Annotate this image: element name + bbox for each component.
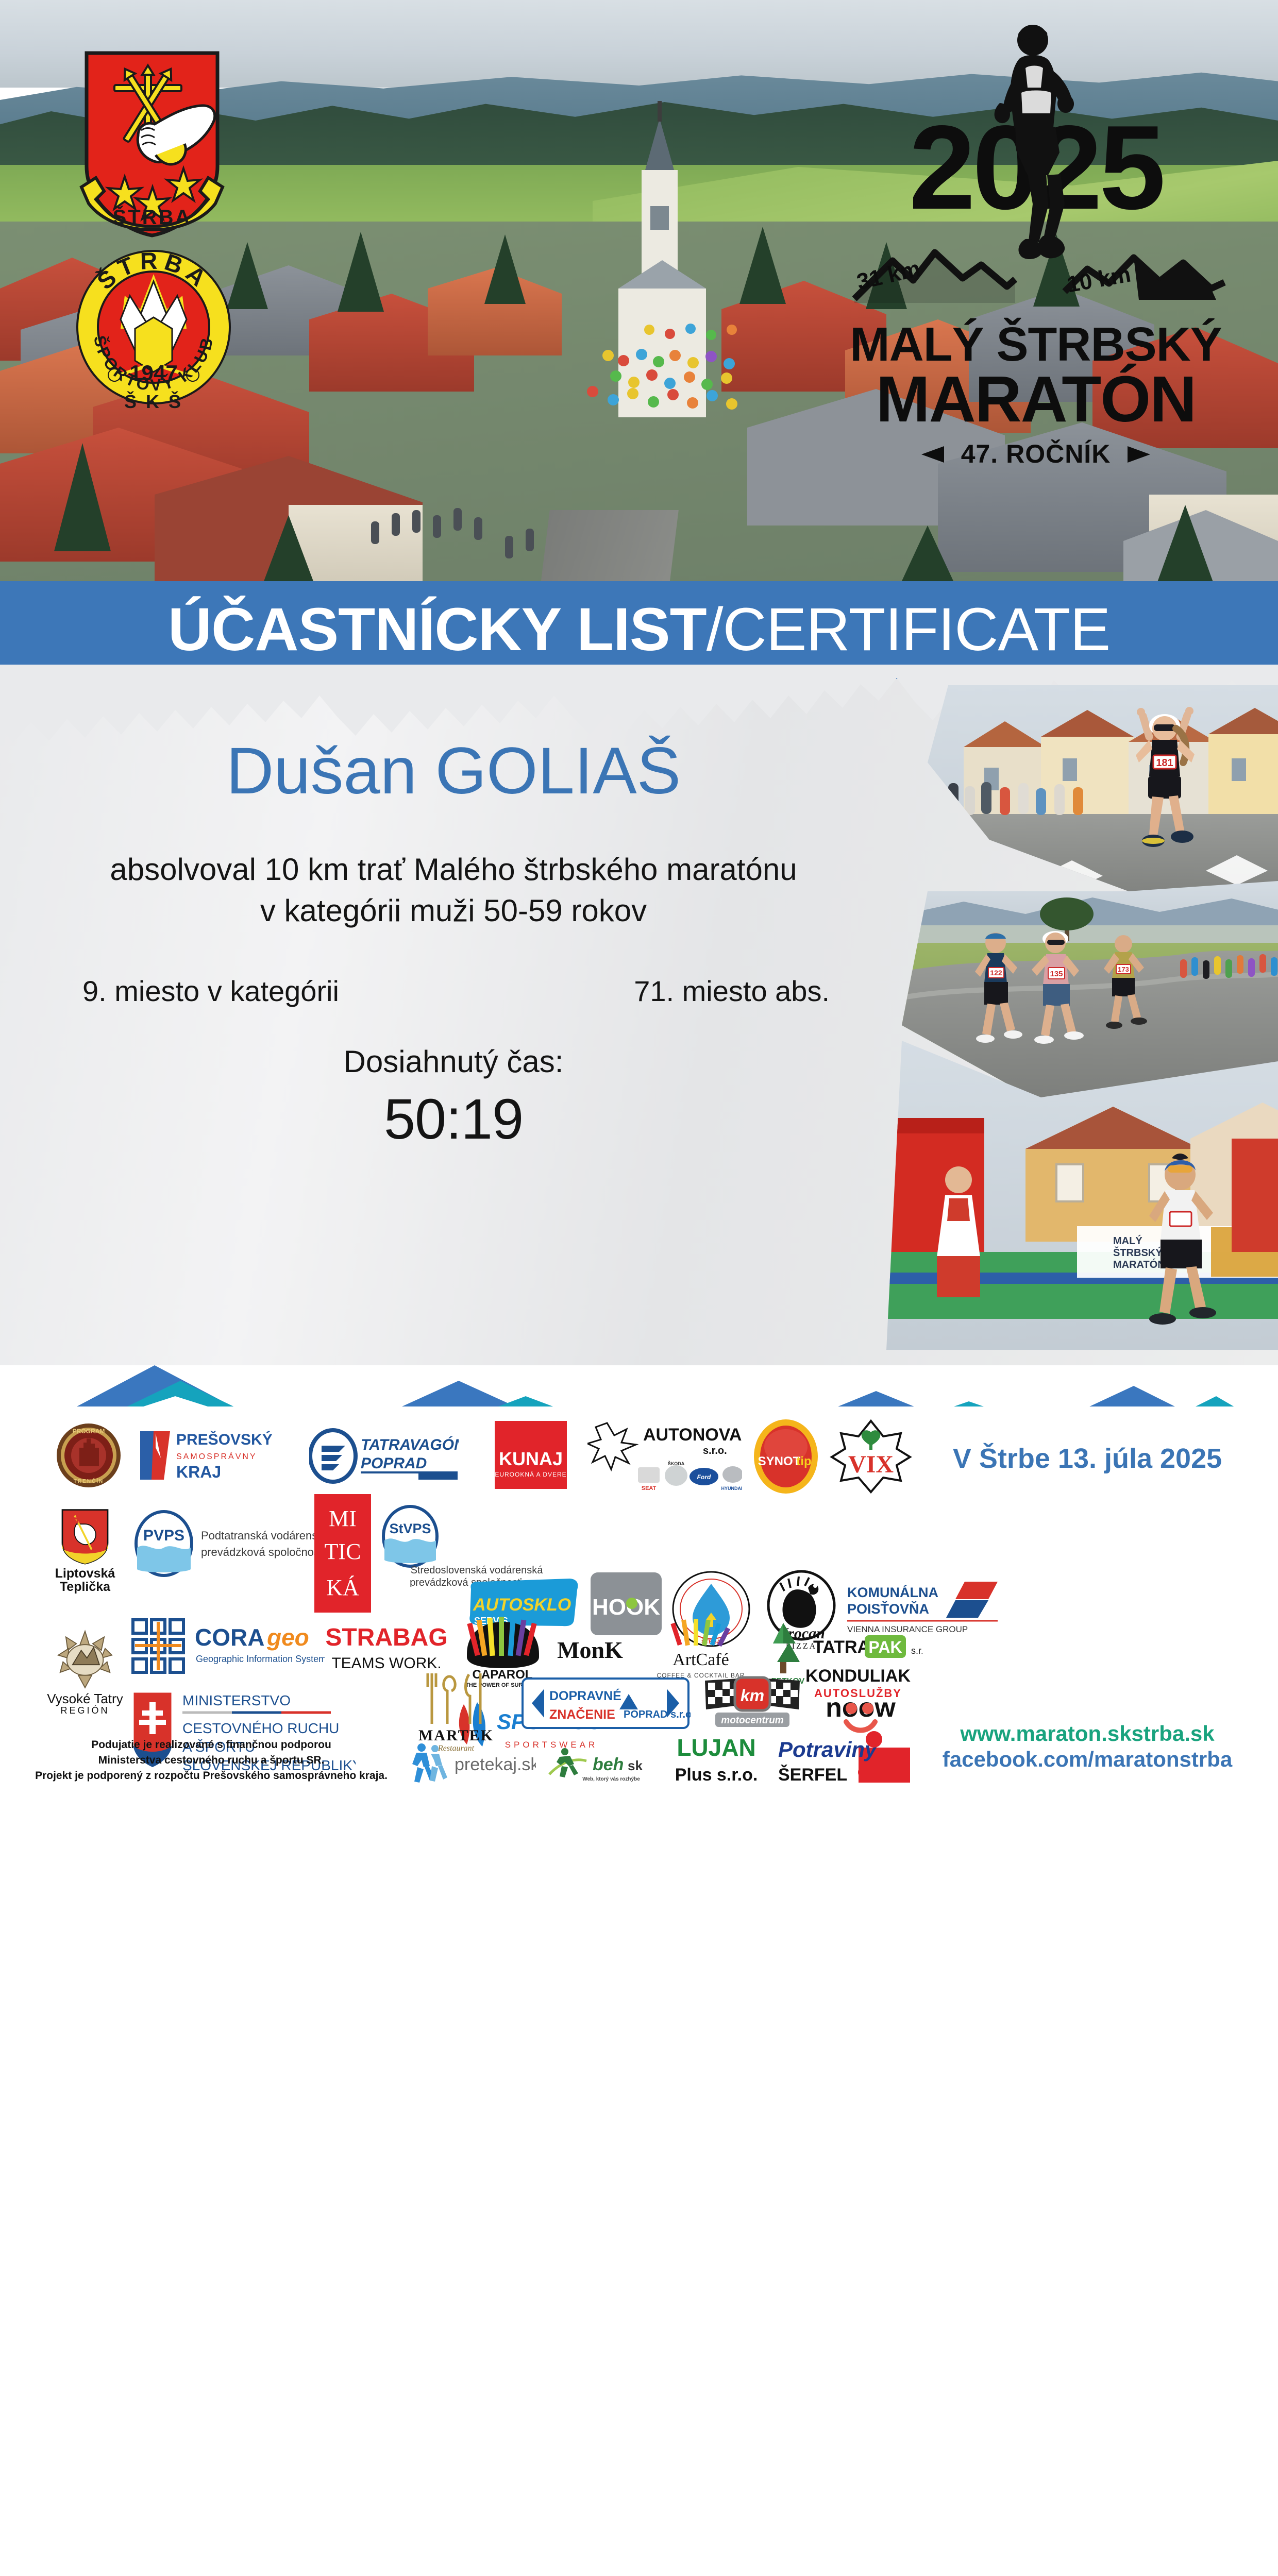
- svg-text:AUTONOVA: AUTONOVA: [643, 1425, 742, 1445]
- svg-text:SYNOT: SYNOT: [758, 1454, 801, 1468]
- sponsor-vt-line1: Vysoké Tatry: [47, 1692, 123, 1706]
- svg-text:173: 173: [1118, 965, 1129, 973]
- svg-text:CORA: CORA: [195, 1624, 264, 1651]
- svg-text:SAMOSPRÁVNY: SAMOSPRÁVNY: [176, 1451, 257, 1461]
- svg-text:noow: noow: [826, 1693, 896, 1723]
- disclaimer-line1: Podujatie je realizované s finančnou pod…: [21, 1737, 402, 1753]
- svg-text:beh: beh: [593, 1755, 624, 1774]
- sponsor-vix[interactable]: VIX: [830, 1419, 912, 1494]
- time-value: 50:19: [0, 1087, 907, 1152]
- svg-text:ŠERFEL: ŠERFEL: [778, 1765, 847, 1785]
- svg-text:MARATÓN: MARATÓN: [1113, 1258, 1165, 1270]
- svg-text:ZNAČENIE: ZNAČENIE: [549, 1706, 615, 1722]
- brand-title-line2: MARATÓN: [845, 367, 1226, 432]
- svg-text:Ford: Ford: [697, 1473, 711, 1481]
- crest-strba-label: ŠTRBA: [113, 205, 192, 229]
- disclaimer-line3: Projekt je podporený z rozpočtu Prešovsk…: [21, 1768, 402, 1784]
- achievement-text: absolvoval 10 km trať Malého štrbského m…: [0, 849, 907, 930]
- sponsor-lujan-plus[interactable]: LUJAN Plus s.r.o.: [665, 1730, 768, 1792]
- sponsor-corageo[interactable]: CORA geo Geographic Information Systems: [129, 1614, 325, 1681]
- time-label: Dosiahnutý čas:: [0, 1044, 907, 1079]
- svg-text:AUTOSKLO: AUTOSKLO: [473, 1595, 571, 1615]
- certificate-title-text: ÚČASTNÍCKY LIST / CERTIFICATE: [0, 583, 1278, 676]
- place-category: 9. miesto v kategórii: [82, 974, 339, 1008]
- svg-text:ŠKODA: ŠKODA: [668, 1461, 685, 1466]
- svg-text:KOMUNÁLNA: KOMUNÁLNA: [847, 1584, 938, 1600]
- disclaimer-line2: Ministerstva cestovného ruchu a športu S…: [21, 1753, 402, 1768]
- sponsor-tatravagonka-poprad[interactable]: TATRAVAGÓNKA POPRAD: [309, 1427, 459, 1484]
- contact-links: www.maraton.skstrba.sk facebook.com/mara…: [907, 1721, 1268, 1772]
- marathon-branding: 2025 3: [845, 21, 1226, 464]
- place-absolute: 71. miesto abs.: [634, 974, 830, 1008]
- sponsor-stvps[interactable]: StVPS Stredoslovenská vodárenská prevádz…: [376, 1504, 577, 1587]
- svg-text:HYUNDAI: HYUNDAI: [721, 1486, 742, 1491]
- svg-text:ŠTRBSKÝ: ŠTRBSKÝ: [1113, 1246, 1163, 1259]
- svg-text:motocentrum: motocentrum: [721, 1715, 784, 1726]
- svg-text:CESTOVNÉHO RUCHU: CESTOVNÉHO RUCHU: [182, 1720, 339, 1736]
- svg-text:PREŠOVSKÝ: PREŠOVSKÝ: [176, 1431, 273, 1448]
- bib-number-181: 181: [1156, 757, 1173, 769]
- banner-title-bold: ÚČASTNÍCKY LIST: [168, 595, 707, 665]
- banner-title-separator: /: [707, 595, 723, 665]
- svg-text:135: 135: [1050, 970, 1063, 978]
- svg-text:s.r.o.: s.r.o.: [911, 1646, 922, 1656]
- svg-text:tip: tip: [796, 1454, 811, 1468]
- svg-text:HOOK: HOOK: [592, 1595, 660, 1620]
- participant-name: Dušan GOLIAŠ: [0, 737, 907, 806]
- svg-text:Web, ktorý vás rozhýbe: Web, ktorý vás rozhýbe: [582, 1776, 640, 1782]
- svg-text:STRABAG: STRABAG: [325, 1624, 447, 1651]
- svg-text:MALÝ: MALÝ: [1113, 1234, 1142, 1247]
- sponsor-liptovska-teplicka[interactable]: Liptovská Teplička: [41, 1499, 129, 1602]
- sponsor-vt-line2: REGIÓN: [47, 1706, 123, 1716]
- svg-text:MonK: MonK: [557, 1637, 623, 1663]
- svg-text:geo: geo: [266, 1624, 309, 1651]
- header-photo: ŠTART: [0, 0, 1278, 598]
- placement-row: 9. miesto v kategórii 71. miesto abs.: [0, 974, 907, 1008]
- svg-text:KUNAJ: KUNAJ: [499, 1448, 563, 1469]
- certificate-content: Dušan GOLIAŠ absolvoval 10 km trať Maléh…: [0, 737, 907, 1152]
- sponsor-program-trencin[interactable]: PROGRAM TRENČÍN: [47, 1422, 130, 1489]
- svg-text:MINISTERSTVO: MINISTERSTVO: [182, 1692, 291, 1708]
- svg-text:sk: sk: [628, 1758, 643, 1773]
- photo-runner-celebrating: 181: [922, 685, 1278, 907]
- svg-text:POPRAD s.r.o.: POPRAD s.r.o.: [624, 1709, 691, 1720]
- svg-text:s.r.o.: s.r.o.: [703, 1445, 727, 1456]
- svg-text:KRAJ: KRAJ: [176, 1463, 221, 1481]
- achievement-line1: absolvoval 10 km trať Malého štrbského m…: [0, 849, 907, 890]
- sponsor-pretekaj-sk[interactable]: pretekaj.sk: [407, 1739, 536, 1786]
- sponsor-lt-line1: Liptovská: [55, 1567, 115, 1580]
- svg-text:Podtatranská vodárenská: Podtatranská vodárenská: [201, 1529, 330, 1542]
- crest-sks-bottom-label: Š K Š: [124, 391, 183, 412]
- svg-text:VIX: VIX: [848, 1451, 894, 1478]
- sponsor-pvps[interactable]: PVPS Podtatranská vodárenská prevádzková…: [129, 1507, 345, 1580]
- svg-text:km: km: [741, 1686, 764, 1705]
- arrow-right-icon: [1128, 446, 1150, 463]
- svg-text:PROGRAM: PROGRAM: [73, 1428, 105, 1435]
- svg-text:pretekaj.sk: pretekaj.sk: [455, 1755, 536, 1774]
- crest-strba-coat-of-arms: ŠTRBA: [77, 49, 227, 240]
- svg-text:Geographic Information Systems: Geographic Information Systems: [196, 1654, 325, 1664]
- brand-edition: 47. ROČNÍK: [845, 439, 1226, 469]
- sponsor-synot-tip[interactable]: SYNOT tip: [747, 1418, 825, 1495]
- svg-text:Potraviny: Potraviny: [778, 1737, 878, 1761]
- svg-text:MI: MI: [329, 1506, 357, 1531]
- sponsor-vysoke-tatry[interactable]: Vysoké Tatry REGIÓN: [36, 1618, 134, 1726]
- sponsor-autonova[interactable]: AUTONOVA s.r.o. SEAT ŠKODA Ford HYUNDAI: [587, 1418, 742, 1495]
- svg-text:DOPRAVNÉ: DOPRAVNÉ: [549, 1688, 621, 1703]
- svg-text:KONDULIAK: KONDULIAK: [805, 1666, 911, 1686]
- svg-text:PAK: PAK: [868, 1638, 902, 1656]
- sponsor-martek[interactable]: MARTEK Restaurant: [407, 1664, 505, 1752]
- funding-disclaimer: Podujatie je realizované s finančnou pod…: [21, 1737, 402, 1783]
- svg-text:PVPS: PVPS: [143, 1527, 184, 1544]
- brand-title-line1: MALÝ ŠTRBSKÝ: [845, 320, 1226, 368]
- crest-sks-emblem: 1947 ŠTRBA ŠPORTOVÝ KLUB Š K Š: [76, 242, 231, 412]
- svg-text:EUROOKNÁ A DVERE: EUROOKNÁ A DVERE: [495, 1470, 566, 1478]
- collage-svg: 181: [871, 685, 1278, 1350]
- photo-collage: 181: [871, 685, 1278, 1350]
- svg-text:StVPS: StVPS: [389, 1521, 431, 1536]
- sponsor-dopravne-znacenie[interactable]: DOPRAVNÉ ZNAČENIE POPRAD s.r.o.: [520, 1675, 691, 1732]
- svg-text:122: 122: [990, 969, 1002, 977]
- svg-text:POISŤOVŇA: POISŤOVŇA: [847, 1601, 929, 1617]
- svg-text:TRENČÍN: TRENČÍN: [74, 1478, 104, 1484]
- svg-text:TATRAVAGÓNKA: TATRAVAGÓNKA: [361, 1436, 459, 1453]
- sponsor-lt-line2: Teplička: [55, 1580, 115, 1594]
- banner-title-light: CERTIFICATE: [722, 595, 1110, 665]
- svg-text:POPRAD: POPRAD: [361, 1455, 427, 1472]
- sponsor-beh-sk[interactable]: beh sk Web, ktorý vás rozhýbe: [546, 1740, 660, 1787]
- achievement-line2: v kategórii muži 50-59 rokov: [0, 890, 907, 931]
- svg-text:Plus s.r.o.: Plus s.r.o.: [675, 1765, 758, 1785]
- sponsor-kunaj[interactable]: KUNAJ EUROOKNÁ A DVERE: [495, 1421, 567, 1489]
- svg-text:Stredoslovenská vodárenská: Stredoslovenská vodárenská: [411, 1565, 544, 1576]
- runner-silhouette-icon: [978, 21, 1091, 268]
- sponsor-presovsky-kraj[interactable]: PREŠOVSKÝ SAMOSPRÁVNY KRAJ: [138, 1427, 277, 1484]
- svg-text:TIC: TIC: [325, 1539, 361, 1564]
- website-url[interactable]: www.maraton.skstrba.sk: [907, 1721, 1268, 1747]
- sponsor-miticka[interactable]: MI TIC KÁ: [314, 1494, 371, 1613]
- sponsor-monk[interactable]: MonK: [541, 1628, 639, 1674]
- svg-text:KÁ: KÁ: [326, 1575, 359, 1600]
- svg-text:ArtCafé: ArtCafé: [672, 1650, 729, 1669]
- sponsor-potraviny-serfel[interactable]: Potraviny ŠERFEL: [773, 1729, 912, 1791]
- svg-text:SEAT: SEAT: [642, 1485, 657, 1492]
- certificate-date: V Štrbe 13. júla 2025: [922, 1443, 1252, 1475]
- svg-text:TATRA: TATRA: [813, 1637, 870, 1657]
- svg-text:LUJAN: LUJAN: [677, 1734, 755, 1761]
- facebook-url[interactable]: facebook.com/maratonstrba: [907, 1747, 1268, 1772]
